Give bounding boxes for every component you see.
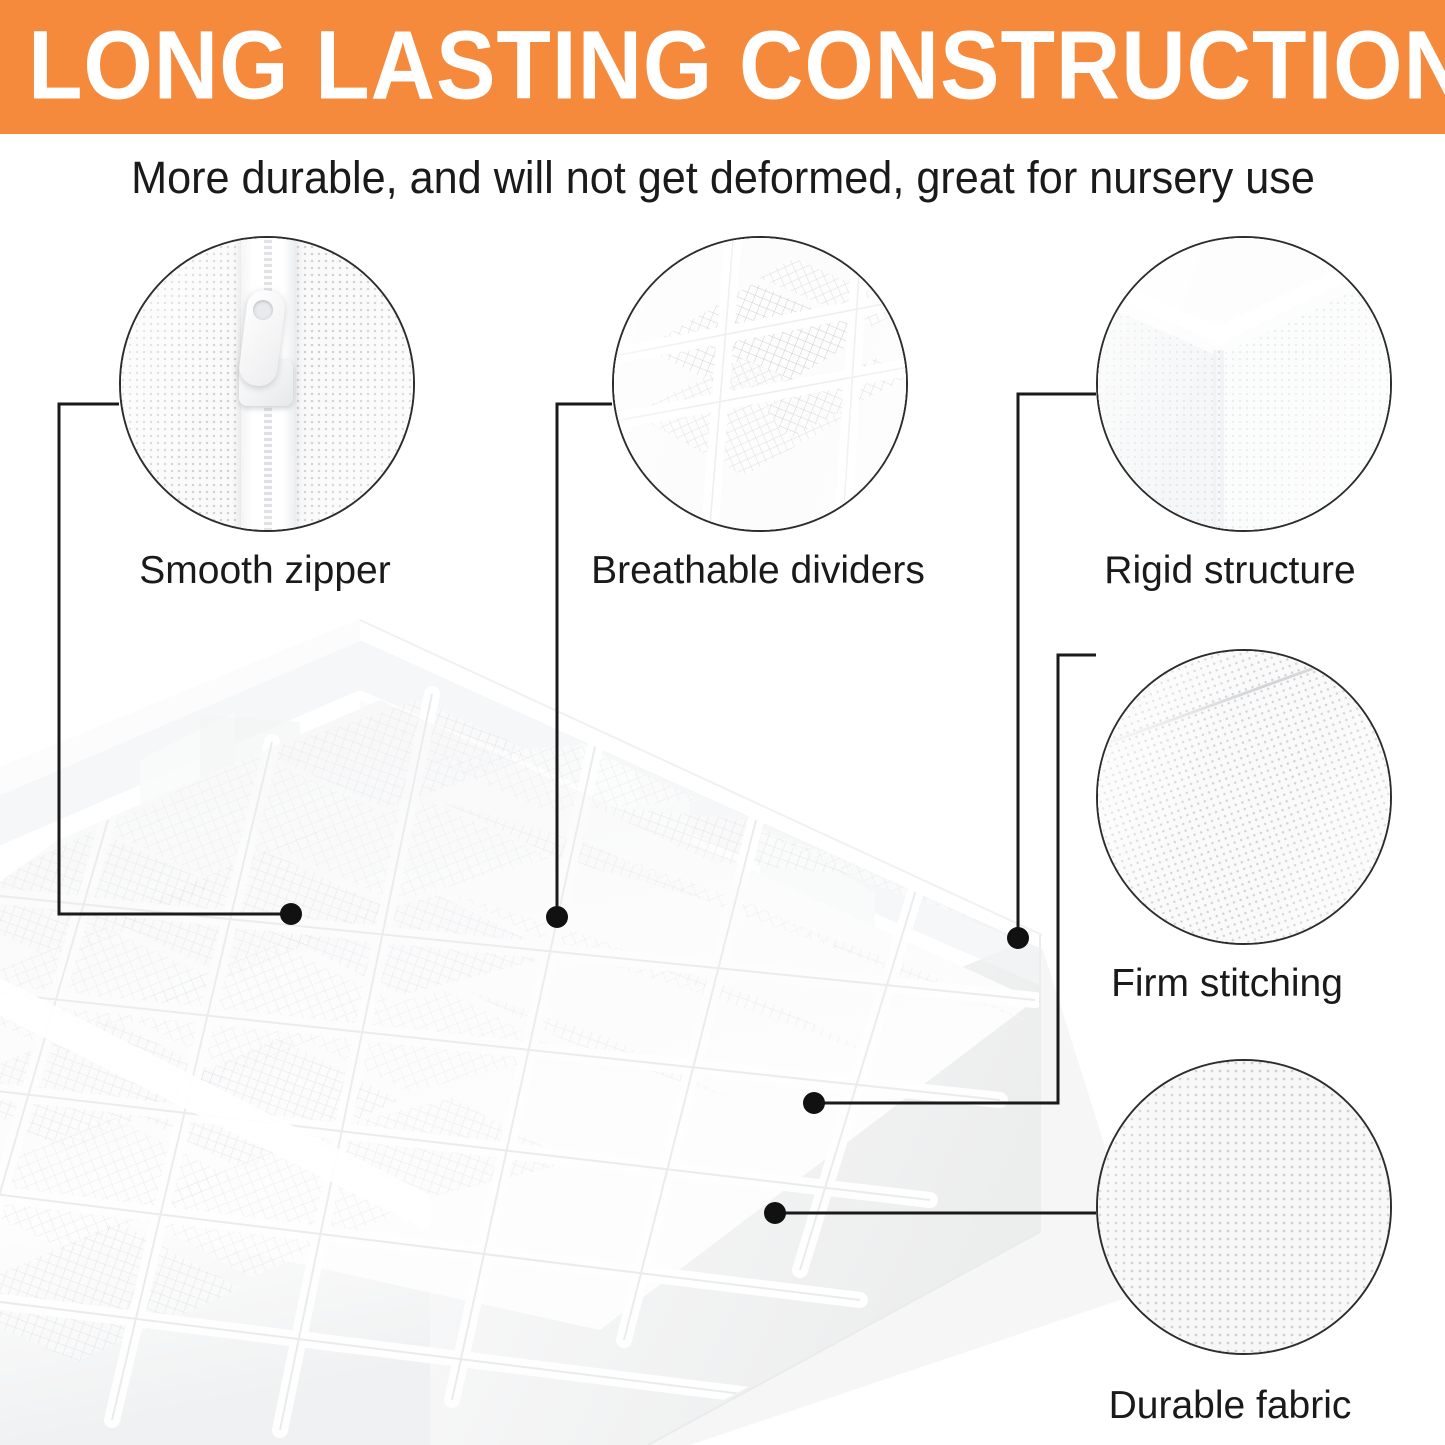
leader-breathable-dividers: [546, 404, 612, 928]
firm-stitching-detail-circle: [1096, 649, 1392, 945]
callout-label-smooth-zipper: Smooth zipper: [139, 551, 390, 590]
callout-label-breathable-dividers: Breathable dividers: [591, 551, 925, 590]
highlight-sheen: [121, 238, 413, 530]
banner-title: LONG LASTING CONSTRUCTION: [28, 17, 1445, 114]
durable-fabric-detail-circle: [1096, 1059, 1392, 1355]
highlight-sheen: [1098, 1061, 1390, 1353]
callout-label-rigid-structure: Rigid structure: [1104, 551, 1355, 590]
leader-rigid-structure: [1007, 394, 1096, 949]
highlight-sheen: [614, 238, 906, 530]
leader-firm-stitching: [803, 655, 1096, 1114]
infographic-root: LONG LASTING CONSTRUCTION More durable, …: [0, 0, 1445, 1445]
smooth-zipper-detail-circle: [119, 236, 415, 532]
leader-durable-fabric: [764, 1202, 1096, 1224]
callout-label-firm-stitching: Firm stitching: [1111, 964, 1343, 1003]
subtitle-text: More durable, and will not get deformed,…: [131, 152, 1315, 204]
header-banner: LONG LASTING CONSTRUCTION: [0, 0, 1445, 134]
breathable-dividers-detail-circle: [612, 236, 908, 532]
highlight-sheen: [1098, 238, 1390, 530]
highlight-sheen: [1098, 651, 1390, 943]
callout-label-durable-fabric: Durable fabric: [1109, 1386, 1352, 1425]
rigid-structure-detail-circle: [1096, 236, 1392, 532]
